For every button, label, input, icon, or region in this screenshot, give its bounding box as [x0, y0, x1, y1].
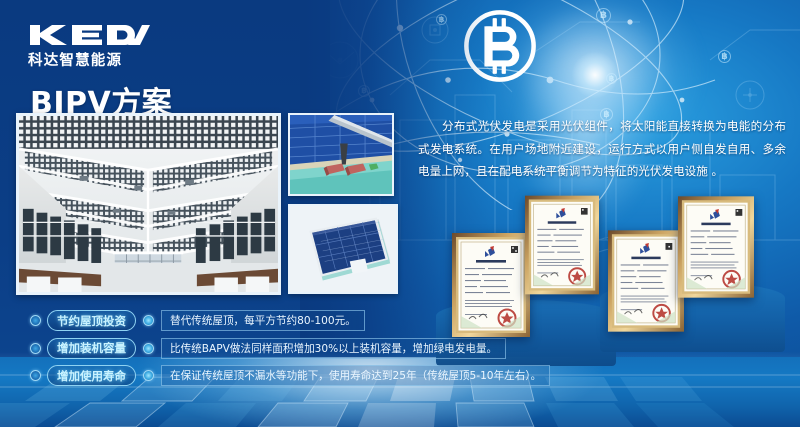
keda-logo-icon [28, 22, 150, 48]
bitcoin-icon-small: ฿ [606, 73, 617, 84]
bullet-dot-icon [30, 343, 41, 354]
feature-row[interactable]: 增加装机容量 比传统BAPV做法同样面积增加30%以上装机容量，增加绿电发电量。 [30, 338, 450, 359]
feature-description: 在保证传统屋顶不漏水等功能下，使用寿命达到25年（传统屋顶5-10年左右）。 [161, 365, 550, 386]
atrium-bipv-skylight-photo [16, 113, 281, 295]
panel-mounting-rail-diagram [288, 113, 394, 196]
bullet-dot-icon [30, 315, 41, 326]
slide-canvas: ฿ ฿ ฿ ฿ ฿ ฿ [0, 0, 800, 427]
description-paragraph: 分布式光伏发电是采用光伏组件，将太阳能直接转换为电能的分布式发电系统。在用户场地… [418, 115, 786, 183]
patent-certificate [608, 230, 684, 332]
pv-module-3d-diagram [288, 204, 398, 294]
bullet-dot-icon [30, 370, 41, 381]
patent-certificate [525, 195, 599, 295]
bullet-dot-icon [143, 315, 154, 326]
patent-certificate [678, 196, 754, 298]
feature-tag: 增加使用寿命 [47, 365, 136, 386]
bitcoin-icon-small: ฿ [718, 50, 731, 63]
patent-certificate [452, 233, 530, 337]
feature-row[interactable]: 增加使用寿命 在保证传统屋顶不漏水等功能下，使用寿命达到25年（传统屋顶5-10… [30, 365, 450, 386]
feature-tag: 增加装机容量 [47, 338, 136, 359]
bullet-dot-icon [143, 343, 154, 354]
feature-list: 节约屋顶投资 替代传统屋顶，每平方节约80-100元。 增加装机容量 比传统BA… [30, 310, 450, 393]
brand-name-cn: 科达智慧能源 [28, 49, 158, 70]
feature-tag: 节约屋顶投资 [47, 310, 136, 331]
feature-description: 替代传统屋顶，每平方节约80-100元。 [161, 310, 365, 331]
feature-row[interactable]: 节约屋顶投资 替代传统屋顶，每平方节约80-100元。 [30, 310, 450, 331]
bitcoin-icon-small: ฿ [596, 8, 611, 23]
feature-description: 比传统BAPV做法同样面积增加30%以上装机容量，增加绿电发电量。 [161, 338, 506, 359]
bullet-dot-icon [143, 370, 154, 381]
brand-logo[interactable]: 科达智慧能源 [28, 22, 158, 70]
